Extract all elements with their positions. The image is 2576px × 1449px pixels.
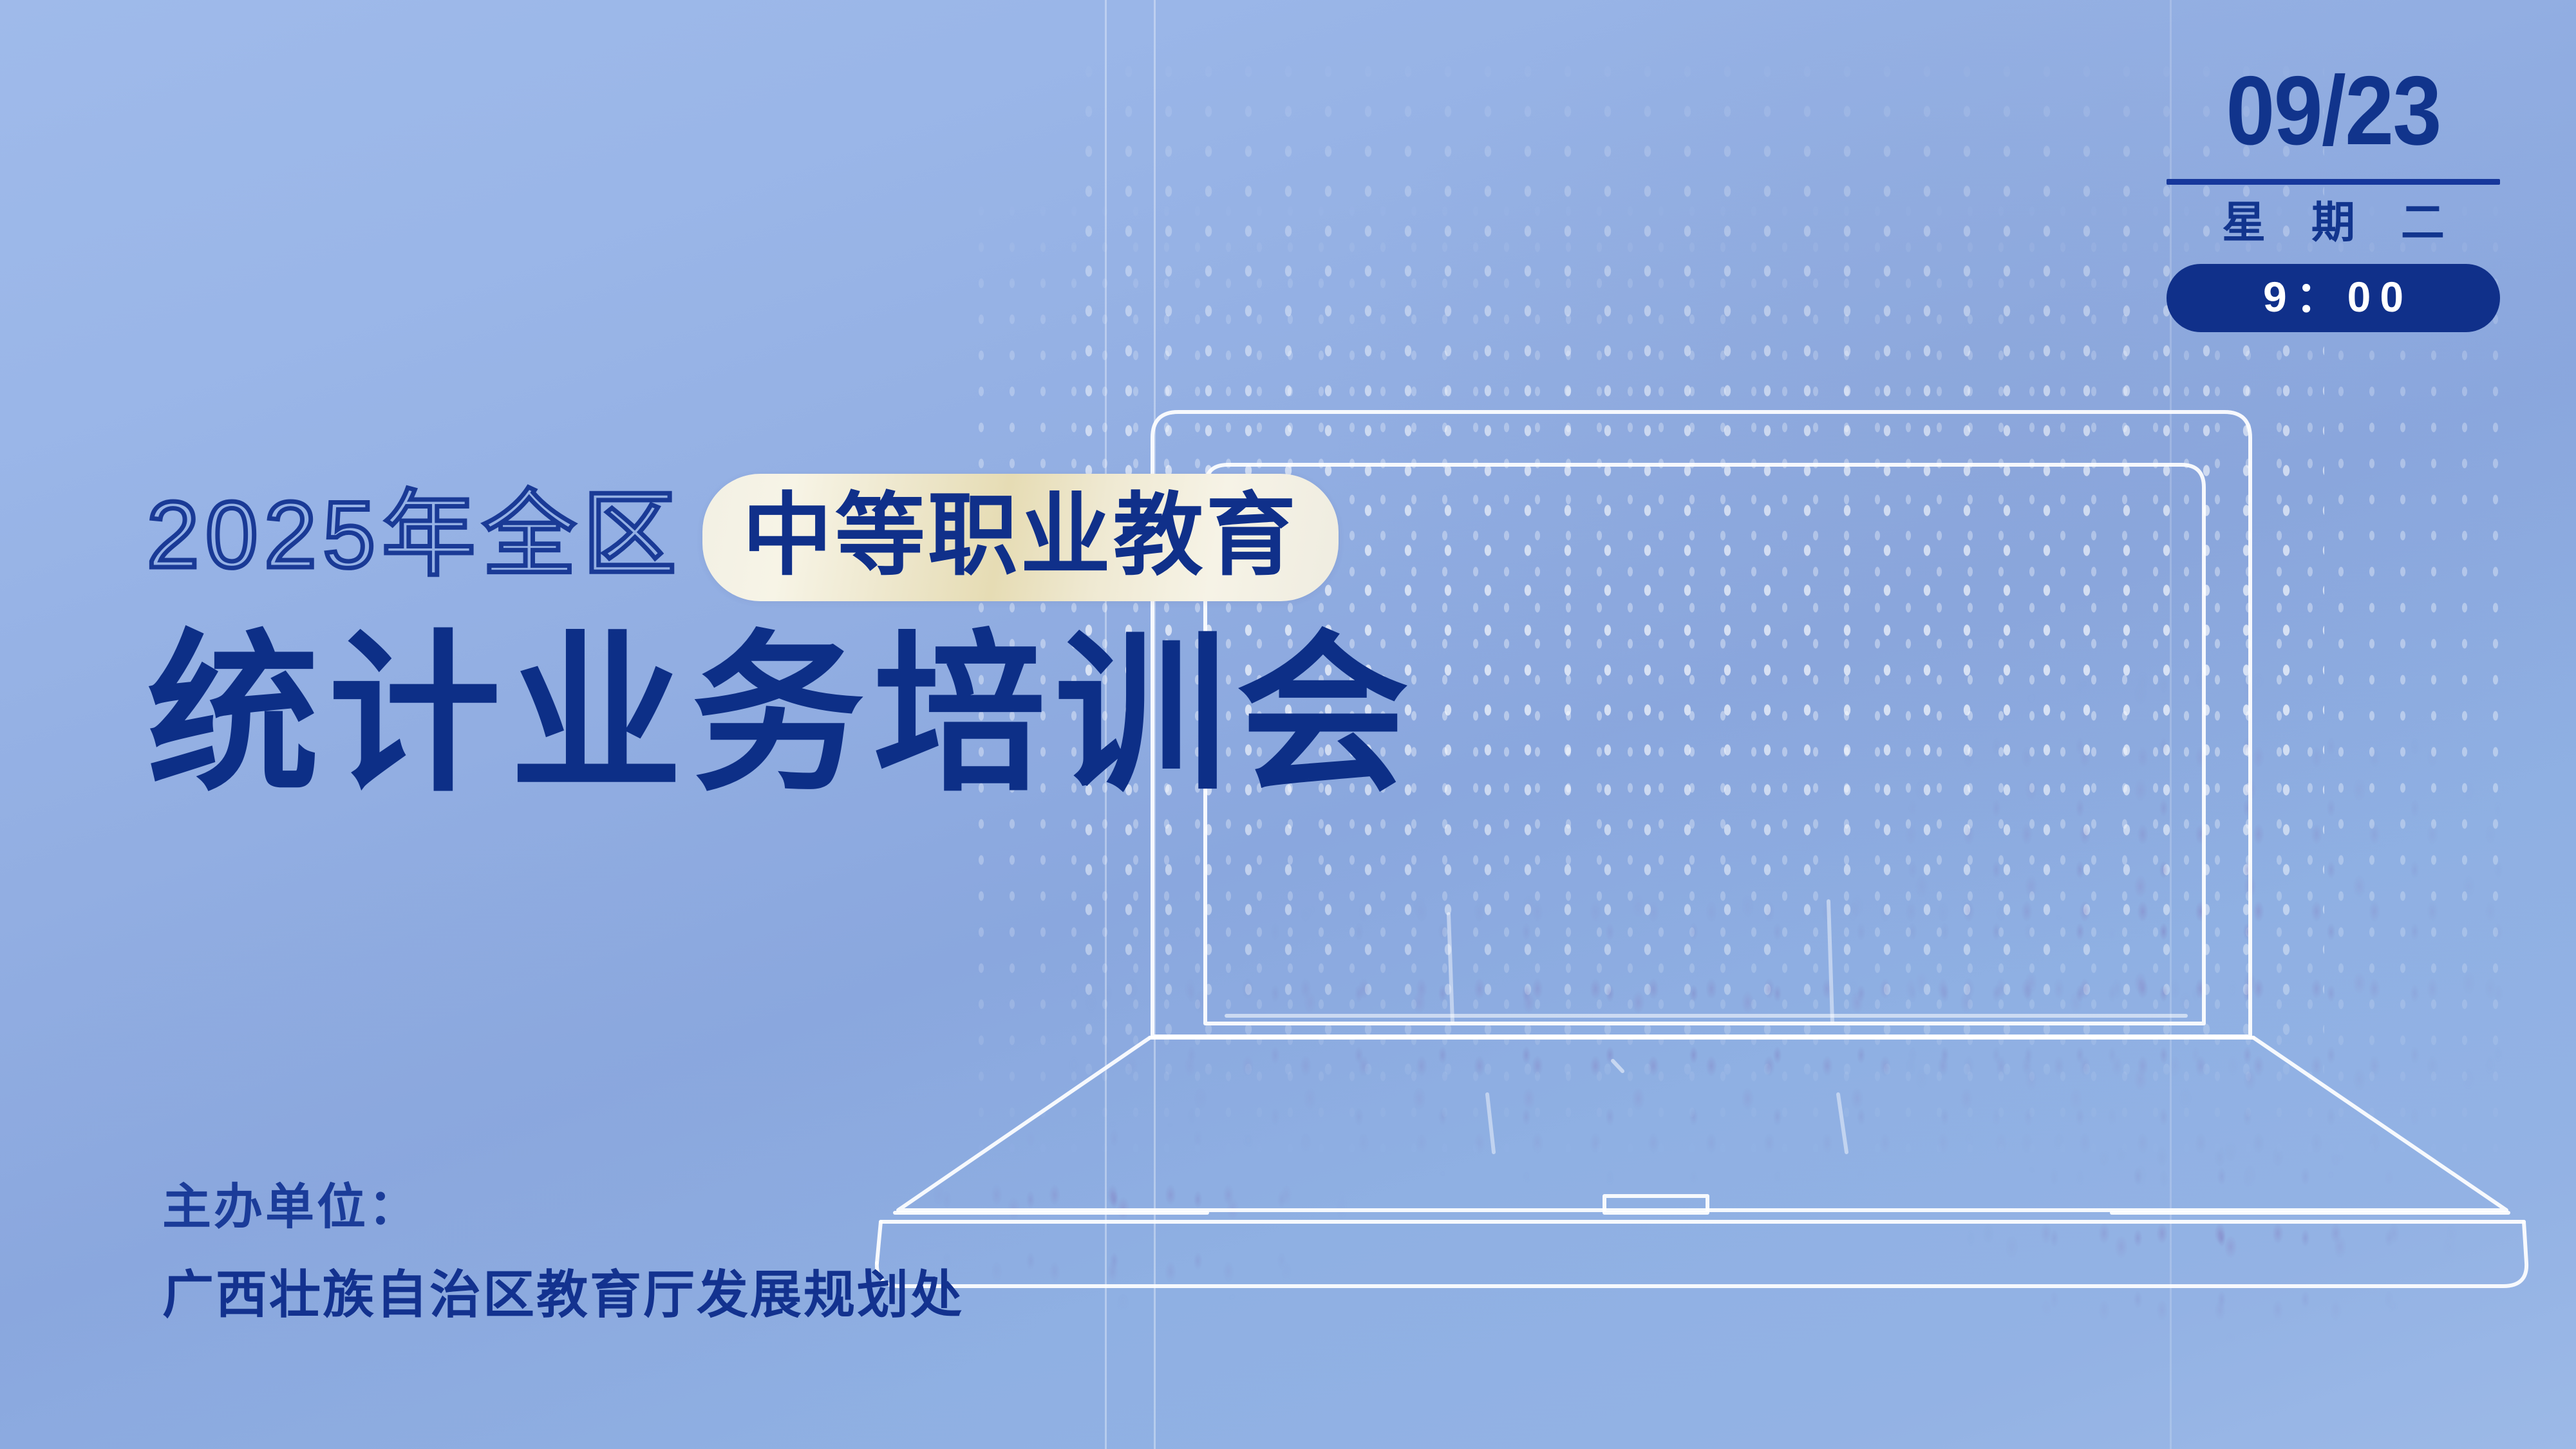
organizer-label: 主办单位： bbox=[162, 1183, 964, 1232]
poster-canvas: 09/23 星 期 二 9：00 2025年全区 中等职业教育 统计业务培训会 … bbox=[0, 0, 2576, 1449]
speckle-cluster bbox=[888, 888, 2434, 1249]
date-weekday: 星 期 二 bbox=[2167, 199, 2500, 247]
highlight-pill: 中等职业教育 bbox=[702, 474, 1339, 601]
date-day-month: 09/23 bbox=[2183, 62, 2483, 160]
organizer-name: 广西壮族自治区教育厅发展规划处 bbox=[162, 1269, 964, 1321]
subtitle-outline-text: 2025年全区 bbox=[147, 488, 683, 587]
headline-group: 2025年全区 中等职业教育 统计业务培训会 bbox=[147, 476, 2078, 803]
time-badge: 9：00 bbox=[2167, 264, 2500, 332]
organizer-block: 主办单位： 广西壮族自治区教育厅发展规划处 bbox=[162, 1183, 964, 1321]
main-title: 统计业务培训会 bbox=[147, 627, 2078, 803]
speckle-cluster bbox=[1919, 1133, 2575, 1403]
headline-line-one: 2025年全区 中等职业教育 bbox=[147, 476, 2078, 599]
highlight-pill-text: 中等职业教育 bbox=[742, 491, 1299, 581]
date-block: 09/23 星 期 二 9：00 bbox=[2167, 62, 2500, 332]
date-divider bbox=[2167, 179, 2500, 185]
